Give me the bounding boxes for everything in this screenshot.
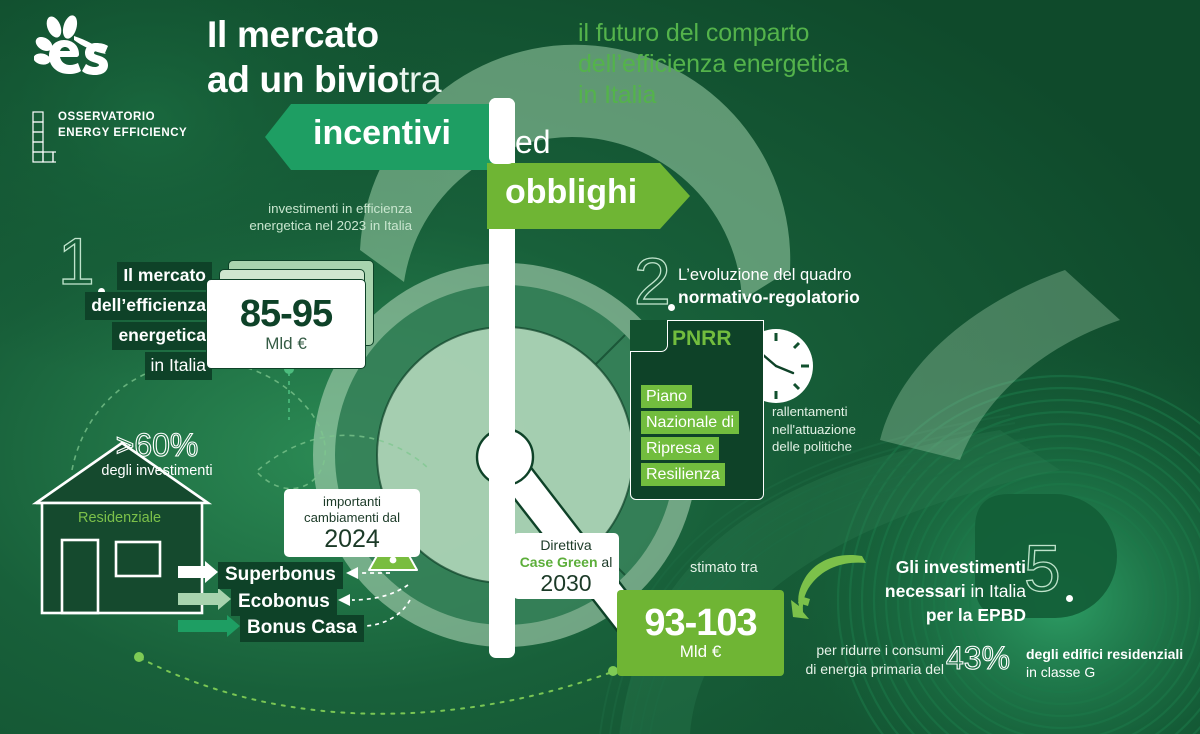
- logo: OSSERVATORIO ENERGY EFFICIENCY: [26, 14, 206, 164]
- title-line-2-bold: ad un bivio: [207, 59, 399, 100]
- reduction-caption: per ridurre i consumi di energia primari…: [780, 641, 944, 679]
- directive-callout: Direttiva Case Green al 2030: [513, 533, 619, 599]
- pnrr-title: PNRR: [672, 327, 732, 351]
- signpost-connector-label: ed: [515, 125, 551, 159]
- section-1-label-line-3: energetica: [112, 322, 212, 350]
- subtitle-line-1: il futuro del comparto: [578, 18, 938, 49]
- section-1-caption-line-1: investimenti in efficienza: [222, 200, 412, 217]
- section-2-note: rallentamenti nell'attuazione delle poli…: [772, 403, 892, 456]
- section-2-number-dot: [668, 304, 675, 311]
- obblighi-sign-label: obblighi: [505, 175, 637, 209]
- section-1-label-line-1: Il mercato: [117, 262, 212, 290]
- pnrr-item-1: Piano: [641, 385, 692, 408]
- residential-share-value: >60%: [82, 428, 232, 462]
- section-5-line-2-rest: in Italia: [971, 581, 1026, 601]
- es-flower-logo-icon: [34, 14, 120, 84]
- pnrr-item-4: Resilienza: [641, 463, 725, 486]
- section-2-number: 2: [634, 248, 671, 314]
- estimate-caption: stimato tra: [690, 560, 758, 576]
- page-subtitle: il futuro del comparto dell’efficienza e…: [578, 18, 938, 111]
- section-1-label-line-2: dell’efficienza: [85, 292, 212, 320]
- directive-name: Case Green: [520, 554, 598, 570]
- pnrr-item-3: Ripresa e: [641, 437, 719, 460]
- bonus-label-bonus-casa: Bonus Casa: [240, 615, 364, 642]
- estimate-card: 93-103 Mld €: [617, 590, 784, 676]
- class-g-line-2: in classe G: [1026, 663, 1196, 681]
- section-2-note-line-1: rallentamenti: [772, 403, 892, 421]
- section-5-label: Gli investimenti necessari in Italia per…: [846, 555, 1026, 627]
- pnrr-items: Piano Nazionale di Ripresa e Resilienza: [641, 385, 765, 489]
- class-g-caption: degli edifici residenziali in classe G: [1026, 645, 1196, 681]
- page-title: Il mercato ad un biviotra: [207, 12, 507, 102]
- bonus-item-ecobonus: Ecobonus: [231, 589, 337, 616]
- subtitle-line-2: dell’efficienza energetica: [578, 49, 938, 80]
- investment-value: 85-95: [240, 295, 332, 333]
- section-2-label-line-1: L’evoluzione del quadro: [678, 265, 908, 286]
- residential-share-caption: degli investimenti: [82, 462, 232, 481]
- estimate-unit: Mld €: [680, 642, 722, 662]
- changes-line-2: cambiamenti dal: [304, 510, 400, 526]
- section-2-note-line-2: nell'attuazione: [772, 421, 892, 439]
- reduction-line-1: per ridurre i consumi: [780, 641, 944, 660]
- directive-line-2: Case Green al: [520, 554, 613, 571]
- estimate-value: 93-103: [644, 604, 756, 642]
- investment-unit: Mld €: [265, 334, 307, 354]
- title-line-2: ad un biviotra: [207, 57, 507, 102]
- title-line-1: Il mercato: [207, 12, 507, 57]
- section-2-note-line-3: delle politiche: [772, 438, 892, 456]
- document-fold-icon: [630, 320, 668, 352]
- reduction-percentage: 43%: [946, 640, 1010, 676]
- section-5-label-line-2: necessari in Italia: [846, 579, 1026, 603]
- section-2-label: L’evoluzione del quadro normativo-regola…: [678, 265, 908, 309]
- residential-share: >60% degli investimenti: [82, 428, 232, 481]
- changes-callout: importanti cambiamenti dal 2024: [284, 489, 420, 557]
- section-1-label-line-4: in Italia: [145, 352, 212, 380]
- class-g-line-1: degli edifici residenziali: [1026, 645, 1196, 663]
- directive-year: 2030: [540, 571, 591, 596]
- section-5-line-2-bold: necessari: [885, 581, 966, 601]
- section-5-label-line-3: per la EPBD: [846, 603, 1026, 627]
- section-5-label-line-1: Gli investimenti: [846, 555, 1026, 579]
- changes-line-1: importanti: [323, 494, 381, 510]
- logo-line-2: ENERGY EFFICIENCY: [58, 125, 187, 141]
- incentivi-sign-label: incentivi: [313, 116, 451, 150]
- pnrr-item-2: Nazionale di: [641, 411, 739, 434]
- directive-line-2-rest: al: [601, 554, 612, 570]
- bonus-label-superbonus: Superbonus: [218, 562, 343, 589]
- section-1-label: Il mercato dell’efficienza energetica in…: [62, 262, 212, 382]
- section-1-caption: investimenti in efficienza energetica ne…: [222, 200, 412, 234]
- infographic-canvas: OSSERVATORIO ENERGY EFFICIENCY Il mercat…: [0, 0, 1200, 734]
- section-2-label-line-2: normativo-regolatorio: [678, 286, 908, 309]
- bonus-item-superbonus: Superbonus: [218, 562, 343, 589]
- bonus-item-bonus-casa: Bonus Casa: [240, 615, 364, 642]
- subtitle-line-3: in Italia: [578, 80, 938, 111]
- section-5-line-3-text: per la EPBD: [926, 605, 1026, 625]
- reduction-line-2: di energia primaria del: [780, 660, 944, 679]
- section-1-caption-line-2: energetica nel 2023 in Italia: [222, 217, 412, 234]
- section-5-number-dot: [1066, 595, 1073, 602]
- changes-year: 2024: [324, 526, 380, 552]
- section-5-number: 5: [1024, 535, 1061, 601]
- directive-line-1: Direttiva: [540, 537, 591, 554]
- osservatorio-grid-icon: [32, 111, 56, 166]
- logo-line-1: OSSERVATORIO: [58, 109, 187, 125]
- house-label: Residenziale: [52, 510, 187, 526]
- title-line-2-light: tra: [399, 59, 441, 100]
- banknote-stack-icon: 85-95 Mld €: [206, 279, 366, 369]
- bonus-label-ecobonus: Ecobonus: [231, 589, 337, 616]
- section-5-line-1-text: Gli investimenti: [896, 557, 1026, 577]
